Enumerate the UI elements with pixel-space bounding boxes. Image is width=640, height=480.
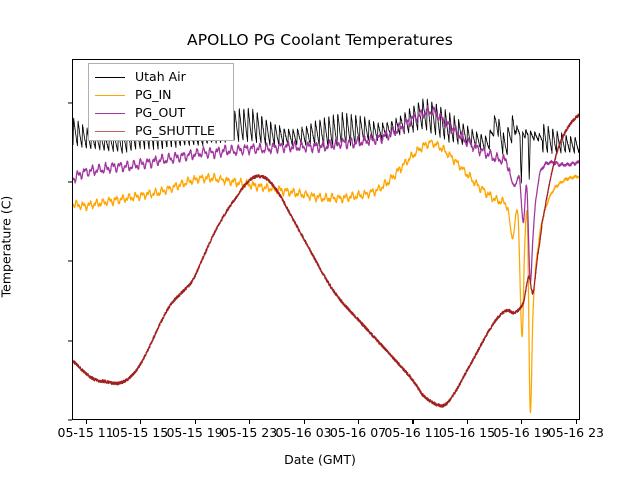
legend-item[interactable]: PG_OUT bbox=[95, 104, 305, 122]
legend-color-swatch bbox=[95, 95, 125, 97]
x-tick-mark bbox=[521, 420, 522, 424]
x-tick-mark bbox=[86, 420, 87, 424]
legend-color-swatch bbox=[95, 131, 125, 133]
x-tick-label: 05-16 15 bbox=[439, 425, 495, 440]
x-tick-label: 05-15 15 bbox=[112, 425, 168, 440]
y-axis-label: Temperature (C) bbox=[0, 87, 14, 407]
legend-color-swatch bbox=[95, 77, 125, 79]
legend-color-swatch bbox=[95, 113, 125, 115]
x-tick-mark bbox=[467, 420, 468, 424]
x-tick-mark bbox=[358, 420, 359, 424]
x-tick-label: 05-16 11 bbox=[384, 425, 440, 440]
x-tick-label: 05-15 23 bbox=[221, 425, 277, 440]
x-tick-label: 05-15 19 bbox=[166, 425, 222, 440]
x-tick-mark bbox=[249, 420, 250, 424]
x-tick-mark bbox=[140, 420, 141, 424]
chart-title: APOLLO PG Coolant Temperatures bbox=[0, 31, 640, 49]
chart-figure: APOLLO PG Coolant Temperatures Temperatu… bbox=[0, 0, 640, 480]
legend-item[interactable]: PG_IN bbox=[95, 86, 305, 104]
x-tick-label: 05-16 23 bbox=[548, 425, 604, 440]
x-tick-mark bbox=[304, 420, 305, 424]
x-tick-label: 05-16 03 bbox=[275, 425, 331, 440]
series-line-pg-in bbox=[73, 140, 579, 412]
legend-label: PG_IN bbox=[135, 86, 172, 104]
x-tick-label: 05-16 19 bbox=[493, 425, 549, 440]
x-tick-label: 05-15 11 bbox=[58, 425, 114, 440]
x-tick-mark bbox=[576, 420, 577, 424]
legend-label: PG_SHUTTLE bbox=[135, 122, 215, 140]
x-tick-mark bbox=[412, 420, 413, 424]
x-tick-label: 05-16 07 bbox=[330, 425, 386, 440]
legend-item[interactable]: Utah Air bbox=[95, 68, 305, 86]
x-tick-mark bbox=[195, 420, 196, 424]
x-axis-label: Date (GMT) bbox=[0, 452, 640, 467]
legend-label: Utah Air bbox=[135, 68, 186, 86]
legend-label: PG_OUT bbox=[135, 104, 185, 122]
legend-item[interactable]: PG_SHUTTLE bbox=[95, 122, 305, 140]
chart-legend: Utah AirPG_INPG_OUTPG_SHUTTLE bbox=[88, 63, 234, 141]
